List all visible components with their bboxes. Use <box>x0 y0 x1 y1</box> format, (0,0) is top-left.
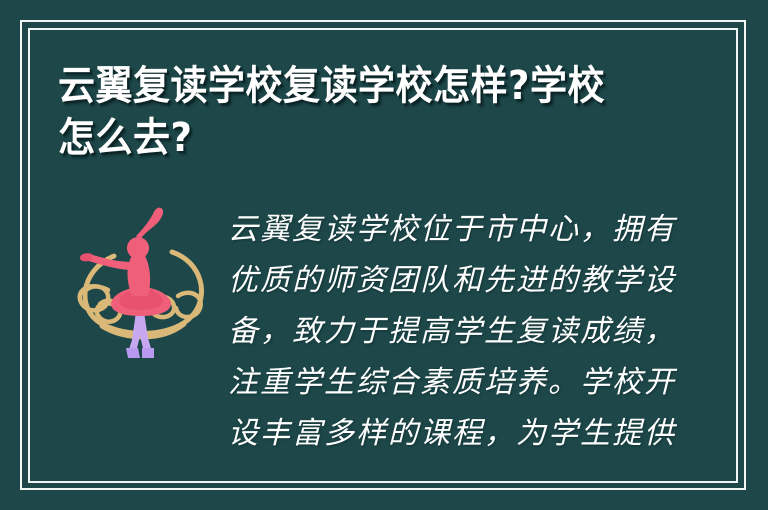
ballerina-illustration <box>62 200 222 380</box>
body-line-4: 注重学生综合素质培养。学校开 <box>228 357 660 408</box>
body-line-3: 备，致力于提高学生复读成绩， <box>228 306 660 357</box>
body-line-1: 云翼复读学校位于市中心，拥有 <box>228 204 660 255</box>
body-paragraph: 云翼复读学校位于市中心，拥有 优质的师资团队和先进的教学设 备，致力于提高学生复… <box>228 204 660 459</box>
title-line-1: 云翼复读学校复读学校怎样?学校 <box>58 58 658 114</box>
poster-canvas: 云翼复读学校复读学校怎样?学校 怎么去? <box>0 0 768 510</box>
body-line-2: 优质的师资团队和先进的教学设 <box>228 255 660 306</box>
title-line-2: 怎么去? <box>58 110 658 166</box>
page-title: 云翼复读学校复读学校怎样?学校 怎么去? <box>58 58 658 162</box>
body-line-5: 设丰富多样的课程，为学生提供 <box>228 408 660 459</box>
